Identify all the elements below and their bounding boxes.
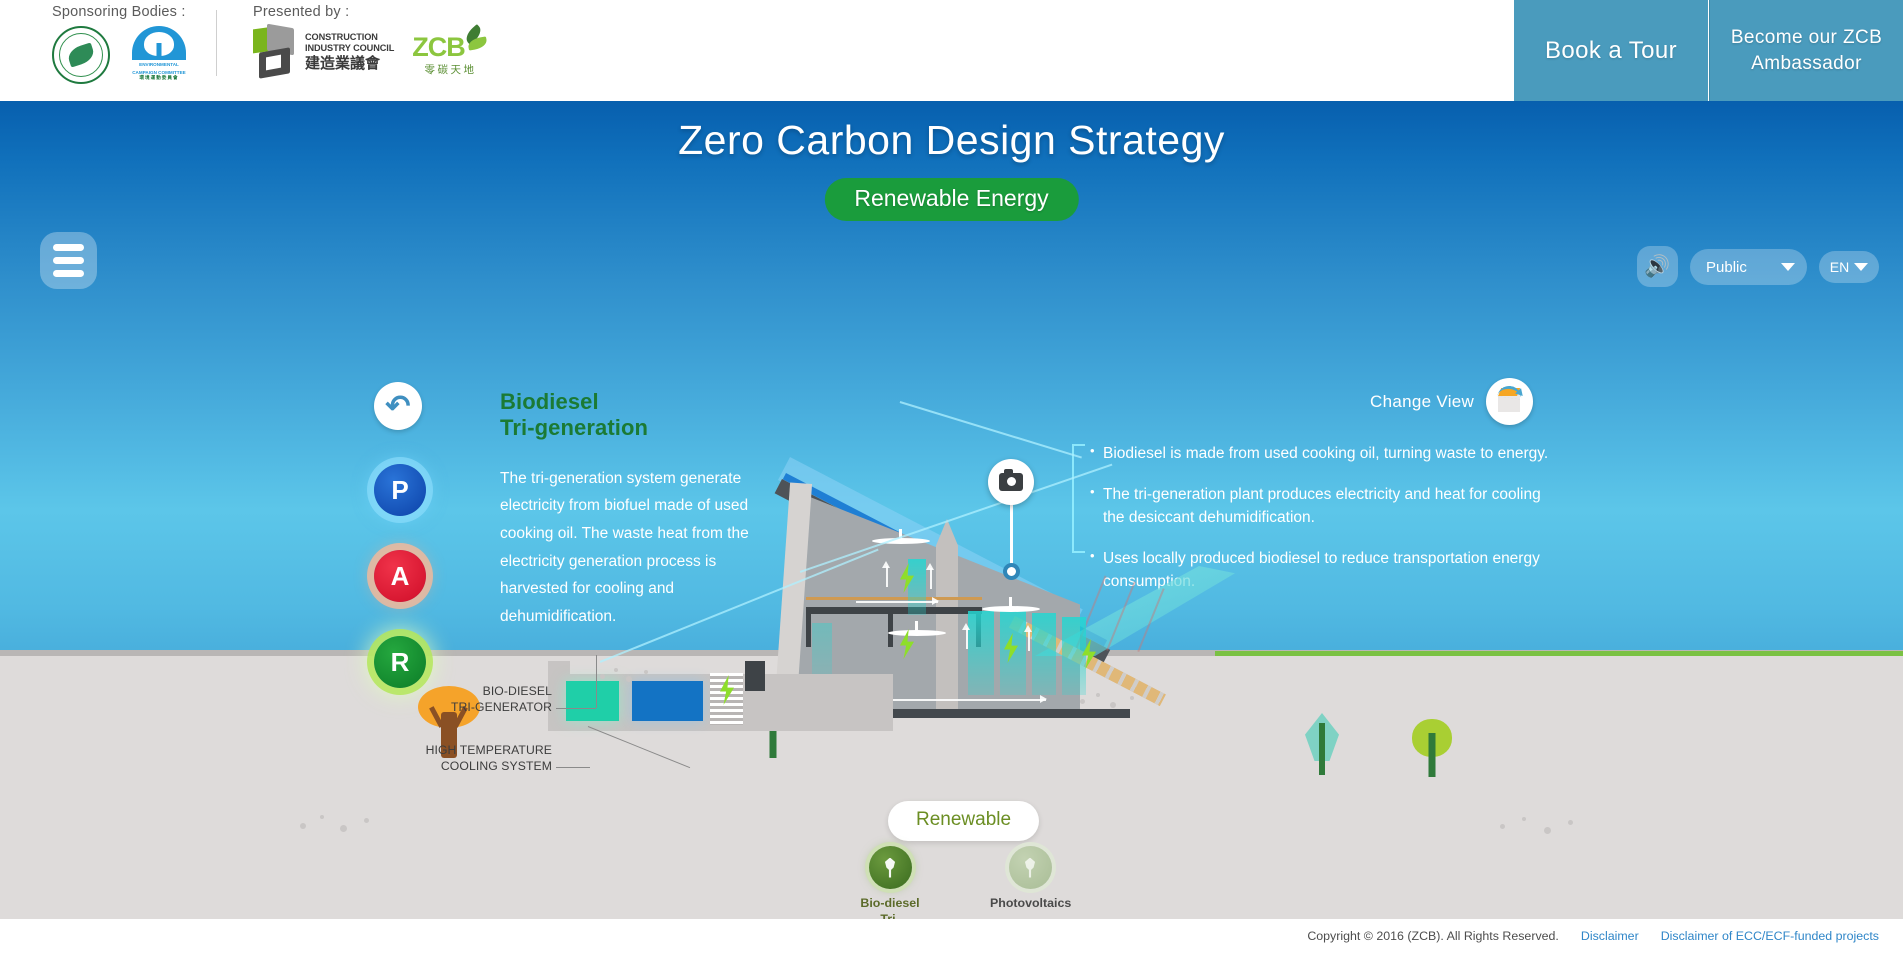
presented-by-group: Presented by : CONSTRUCTION INDUSTRY COU… (221, 4, 511, 78)
pebble-cluster (1080, 693, 1150, 713)
cic-logo-line1: CONSTRUCTION (305, 32, 394, 44)
hamburger-menu-icon[interactable] (40, 232, 97, 289)
sidebar-item-passive[interactable]: P (374, 464, 426, 516)
camera-icon[interactable] (988, 459, 1034, 505)
ecc-logo-line3: 環境運動委員會 (139, 75, 178, 81)
speaker-icon[interactable]: 🔊 (1637, 246, 1678, 287)
tree-teal-leaf (1300, 713, 1344, 775)
window-glazing (968, 611, 994, 695)
hotspot-anchor-dot (1003, 563, 1020, 580)
toggle-photovoltaics[interactable]: Photovoltaics (990, 846, 1070, 919)
chevron-down-icon (1781, 263, 1795, 271)
sidebar-item-active[interactable]: A (374, 550, 426, 602)
chimney-shaft (936, 519, 958, 709)
presented-by-label: Presented by : (243, 4, 489, 20)
renewable-pill-label: Renewable (888, 801, 1039, 841)
ecc-logo-line1: ENVIRONMENTAL (139, 62, 179, 68)
info-panel-title-line2: Tri-generation (500, 415, 765, 441)
sponsoring-bodies-group: Sponsoring Bodies : ENVIRONMENTAL CAMPAI… (20, 4, 212, 84)
duct-elbow (745, 661, 765, 691)
zcb-logo-chinese: 零碳天地 (425, 62, 477, 77)
pebble-cluster (300, 813, 390, 835)
airflow-arrow-icon (882, 561, 891, 587)
status-badge: Renewable Energy (824, 178, 1078, 221)
rotate-cube-icon (1486, 378, 1533, 425)
disclaimer-link[interactable]: Disclaimer (1581, 929, 1639, 943)
cic-logo-line2: INDUSTRY COUNCIL (305, 43, 394, 55)
toggle-label: Bio-diesel Tri-generation (850, 896, 930, 919)
sidebar-item-renewable[interactable]: R (374, 636, 426, 688)
leaf-icon (1009, 846, 1052, 889)
sponsoring-logos: ENVIRONMENTAL CAMPAIGN COMMITTEE 環境運動委員會 (42, 26, 190, 84)
callout-biodiesel-tri-generator: BIO-DIESEL TRI-GENERATOR (430, 684, 552, 715)
scene-canvas: Zero Carbon Design Strategy Renewable En… (0, 101, 1903, 919)
cooling-unit-box (566, 681, 619, 721)
zcb-logo-top: ZCB (412, 27, 489, 61)
audience-value: Public (1706, 259, 1747, 276)
ecc-logo-icon: ENVIRONMENTAL CAMPAIGN COMMITTEE 環境運動委員會 (128, 26, 190, 84)
ecf-leaf-shape (66, 42, 96, 67)
change-view-label: Change View (1370, 392, 1474, 412)
cic-logo-icon: CONSTRUCTION INDUSTRY COUNCIL 建造業議會 (253, 26, 394, 78)
language-select[interactable]: EN (1819, 251, 1879, 283)
plant-slab-step (548, 661, 570, 674)
language-value: EN (1830, 259, 1849, 275)
cic-logo-chinese: 建造業議會 (305, 56, 394, 73)
footer: Copyright © 2016 (ZCB). All Rights Reser… (0, 919, 1903, 953)
leaf-icon (869, 846, 912, 889)
callout-high-temperature-cooling: HIGH TEMPERATURE COOLING SYSTEM (408, 743, 552, 774)
airflow-arrow-icon (926, 563, 935, 589)
tri-generator-box (632, 681, 703, 721)
copyright-text: Copyright © 2016 (ZCB). All Rights Reser… (1307, 929, 1559, 943)
sponsoring-bodies-label: Sponsoring Bodies : (42, 4, 190, 20)
hotspot-stem (1010, 503, 1013, 569)
sponsor-divider (216, 10, 217, 76)
info-panel-title-line1: Biodiesel (500, 389, 765, 415)
airflow-arrow-icon (962, 623, 971, 649)
ecc-tree-shape (132, 26, 186, 60)
airflow-arrow-icon (856, 597, 938, 606)
pebble-cluster (600, 666, 670, 686)
ceiling-fan-icon (888, 621, 946, 637)
tree-green-round (1410, 719, 1454, 777)
book-a-tour-button[interactable]: Book a Tour (1514, 0, 1708, 101)
presenter-logos: CONSTRUCTION INDUSTRY COUNCIL 建造業議會 ZCB … (243, 26, 489, 78)
callout-line2: COOLING SYSTEM (408, 759, 552, 775)
grass-strip (1215, 651, 1903, 656)
pebble-cluster (1500, 816, 1590, 838)
page-root: Sponsoring Bodies : ENVIRONMENTAL CAMPAI… (0, 0, 1903, 953)
mezzanine-floor (806, 607, 982, 614)
renewable-toggle-group: Bio-diesel Tri-generation Photovoltaics (850, 846, 1090, 919)
info-panel-body: The tri-generation system generate elect… (500, 465, 765, 630)
zcb-logo-icon: ZCB 零碳天地 (412, 27, 489, 77)
window-glazing (908, 559, 926, 615)
callout-leader (556, 767, 590, 768)
callout-line2: TRI-GENERATOR (430, 700, 552, 716)
chevron-down-icon (1854, 263, 1868, 271)
become-ambassador-button[interactable]: Become our ZCB Ambassador (1709, 0, 1903, 101)
window-glazing (1032, 613, 1056, 695)
sponsor-strip: Sponsoring Bodies : ENVIRONMENTAL CAMPAI… (20, 4, 511, 84)
ecc-ecf-disclaimer-link[interactable]: Disclaimer of ECC/ECF-funded projects (1661, 929, 1879, 943)
airflow-arrow-icon (1024, 625, 1033, 651)
strategy-button-rail: ↶ P A R (374, 382, 446, 722)
callout-line1: HIGH TEMPERATURE (408, 743, 552, 759)
callout-leader (596, 655, 597, 708)
window-glazing (1062, 617, 1086, 695)
callout-line1: BIO-DIESEL (430, 684, 552, 700)
callout-leader (556, 708, 596, 709)
ceiling-fan-icon (982, 597, 1040, 613)
toggle-bio-diesel-tri-generation[interactable]: Bio-diesel Tri-generation (850, 846, 930, 919)
cic-mark-shape (253, 26, 298, 78)
top-bar: Sponsoring Bodies : ENVIRONMENTAL CAMPAI… (0, 0, 1903, 101)
airflow-arrow-icon (876, 695, 1046, 704)
audience-select[interactable]: Public (1690, 249, 1807, 285)
ecf-logo-icon (52, 26, 110, 84)
zcb-logo-word: ZCB (412, 35, 465, 61)
zcb-leaf-icon (463, 27, 489, 57)
toggle-label: Photovoltaics (990, 896, 1070, 912)
change-view-button[interactable]: Change View (1370, 378, 1533, 425)
info-panel: Biodiesel Tri-generation The tri-generat… (500, 389, 765, 630)
page-title: Zero Carbon Design Strategy (0, 117, 1903, 164)
back-arrow-icon[interactable]: ↶ (374, 382, 422, 430)
